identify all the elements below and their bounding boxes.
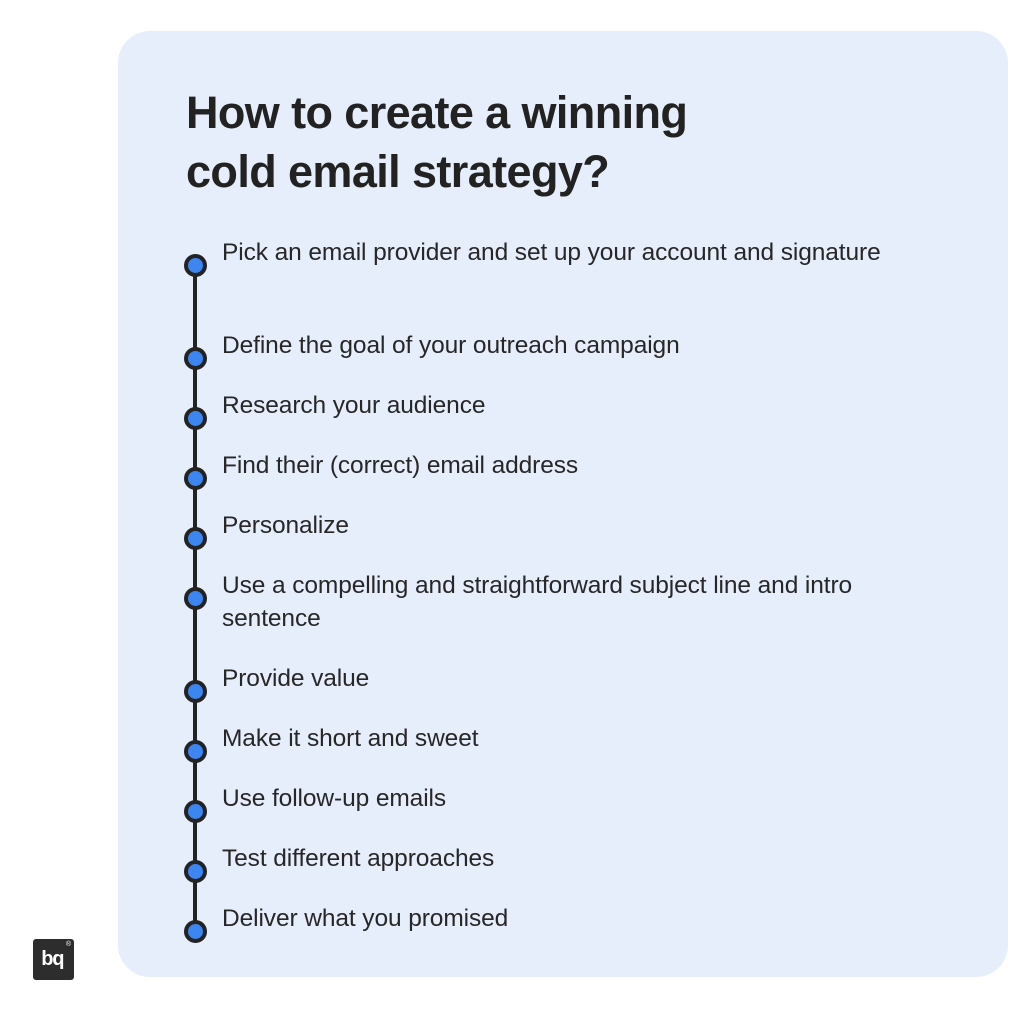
list-item: Use follow-up emails bbox=[176, 782, 956, 842]
list-item: Use a compelling and straightforward sub… bbox=[176, 569, 956, 662]
bullet-dot-icon bbox=[184, 467, 207, 490]
list-item: Research your audience bbox=[176, 389, 956, 449]
pandadoc-logo: pd ® bbox=[33, 939, 74, 980]
registered-trademark-icon: ® bbox=[66, 941, 71, 948]
bullet-dot-icon bbox=[184, 527, 207, 550]
page-title: How to create a winning cold email strat… bbox=[186, 83, 886, 201]
bullet-dot-icon bbox=[184, 254, 207, 277]
step-label: Use follow-up emails bbox=[222, 782, 446, 815]
bullet-dot-icon bbox=[184, 347, 207, 370]
list-item: Pick an email provider and set up your a… bbox=[176, 236, 956, 329]
list-item: Find their (correct) email address bbox=[176, 449, 956, 509]
bullet-dot-icon bbox=[184, 740, 207, 763]
bullet-dot-icon bbox=[184, 407, 207, 430]
step-label: Test different approaches bbox=[222, 842, 494, 875]
bullet-dot-icon bbox=[184, 587, 207, 610]
bullet-dot-icon bbox=[184, 920, 207, 943]
page-title-line-2: cold email strategy? bbox=[186, 142, 886, 201]
steps-timeline: Pick an email provider and set up your a… bbox=[176, 236, 956, 962]
step-label: Pick an email provider and set up your a… bbox=[222, 236, 881, 269]
list-item: Define the goal of your outreach campaig… bbox=[176, 329, 956, 389]
list-item: Deliver what you promised bbox=[176, 902, 956, 962]
bullet-dot-icon bbox=[184, 800, 207, 823]
page-title-line-1: How to create a winning bbox=[186, 83, 886, 142]
steps-list: Pick an email provider and set up your a… bbox=[176, 236, 956, 962]
step-label: Research your audience bbox=[222, 389, 485, 422]
infographic-card: How to create a winning cold email strat… bbox=[118, 31, 1008, 977]
list-item: Make it short and sweet bbox=[176, 722, 956, 782]
step-label: Personalize bbox=[222, 509, 349, 542]
list-item: Test different approaches bbox=[176, 842, 956, 902]
list-item: Provide value bbox=[176, 662, 956, 722]
step-label: Define the goal of your outreach campaig… bbox=[222, 329, 680, 362]
step-label: Provide value bbox=[222, 662, 369, 695]
step-label: Find their (correct) email address bbox=[222, 449, 578, 482]
step-label: Make it short and sweet bbox=[222, 722, 478, 755]
bullet-dot-icon bbox=[184, 860, 207, 883]
bullet-dot-icon bbox=[184, 680, 207, 703]
step-label: Use a compelling and straightforward sub… bbox=[222, 569, 942, 635]
step-label: Deliver what you promised bbox=[222, 902, 508, 935]
list-item: Personalize bbox=[176, 509, 956, 569]
